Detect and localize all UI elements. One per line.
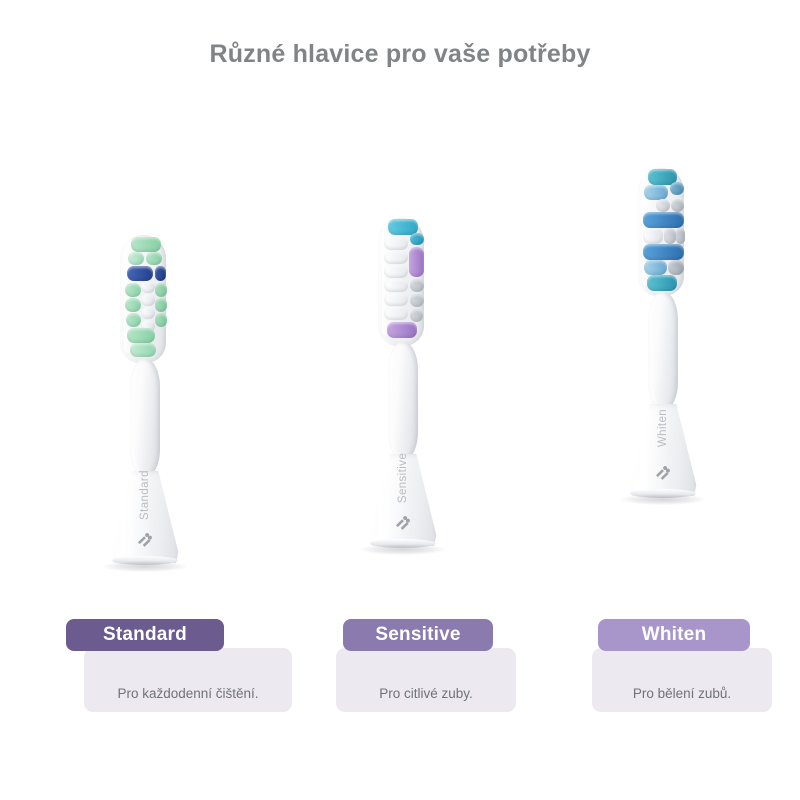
bristle-tuft xyxy=(155,298,167,312)
bristle-tuft xyxy=(676,228,685,244)
product-whiten: Whiten Pro bělení zubů. Whiten xyxy=(578,0,748,800)
bristle-tuft xyxy=(155,313,167,327)
bristle-head-sensitive xyxy=(372,218,434,346)
bristle-tuft xyxy=(146,252,162,265)
label-card-whiten: Pro bělení zubů. xyxy=(592,648,772,712)
brush-neck xyxy=(648,292,678,410)
bristle-tuft xyxy=(644,260,667,275)
bristle-tuft xyxy=(643,212,684,228)
product-stage: Standard Pro každodenní čištění. Standar… xyxy=(0,0,800,800)
label-card-sensitive: Pro citlivé zuby. xyxy=(336,648,516,712)
bristle-tuft xyxy=(410,233,424,245)
product-standard: Standard Pro každodenní čištění. Standar… xyxy=(60,0,230,800)
bristle-tuft xyxy=(155,266,166,281)
bristle-tuft xyxy=(127,328,155,343)
badge-standard[interactable]: Standard xyxy=(66,619,224,651)
bristle-tuft xyxy=(141,307,155,319)
bristle-tuft xyxy=(410,279,424,292)
handle-label-sensitive: Sensitive xyxy=(397,453,409,503)
badge-whiten[interactable]: Whiten xyxy=(598,619,750,651)
bristle-tuft xyxy=(387,322,417,338)
bristle-tuft xyxy=(127,266,153,281)
chevron-logo-icon xyxy=(655,466,672,481)
bristle-tuft xyxy=(384,265,408,278)
brush-shadow xyxy=(620,494,706,505)
bristle-tuft xyxy=(410,309,423,322)
handle-label-standard: Standard xyxy=(139,470,151,520)
label-description: Pro bělení zubů. xyxy=(592,686,772,701)
badge-sensitive[interactable]: Sensitive xyxy=(343,619,493,651)
bristle-tuft xyxy=(668,260,684,275)
bristle-tuft xyxy=(384,279,408,292)
bristle-tuft xyxy=(384,237,408,250)
bristle-tuft xyxy=(670,182,684,195)
label-description: Pro citlivé zuby. xyxy=(336,686,516,701)
bristle-head-whiten xyxy=(632,168,694,296)
bristle-tuft xyxy=(125,283,141,297)
handle-label-whiten: Whiten xyxy=(657,409,669,447)
brush-neck xyxy=(130,359,160,477)
brush-neck xyxy=(388,342,418,460)
bristle-tuft xyxy=(384,251,408,264)
bristle-tuft xyxy=(410,294,424,307)
bristle-tuft xyxy=(125,298,141,312)
bristle-tuft xyxy=(155,283,167,297)
bristle-tuft xyxy=(384,307,408,320)
chevron-logo-icon xyxy=(395,516,412,531)
brush-shadow xyxy=(102,561,188,572)
bristle-tuft xyxy=(141,294,155,306)
bristle-tuft xyxy=(664,228,676,244)
bristle-tuft xyxy=(647,275,677,291)
bristle-tuft xyxy=(126,313,141,327)
brush-shadow xyxy=(360,544,446,555)
bristle-tuft xyxy=(128,252,144,265)
bristle-tuft xyxy=(130,343,156,357)
label-card-standard: Pro každodenní čištění. xyxy=(84,648,292,712)
bristle-tuft xyxy=(643,228,663,244)
product-sensitive: Sensitive Pro citlivé zuby. Sensitive xyxy=(318,0,488,800)
bristle-tuft xyxy=(671,199,684,212)
bristle-tuft xyxy=(409,247,424,277)
chevron-logo-icon xyxy=(137,533,154,548)
bristle-tuft xyxy=(643,244,684,260)
bristle-head-standard xyxy=(114,235,176,363)
bristle-tuft xyxy=(131,237,161,252)
label-description: Pro každodenní čištění. xyxy=(84,686,292,701)
bristle-tuft xyxy=(141,281,155,293)
bristle-tuft xyxy=(384,293,408,306)
bristle-tuft xyxy=(644,185,668,200)
bristle-tuft xyxy=(656,199,670,212)
